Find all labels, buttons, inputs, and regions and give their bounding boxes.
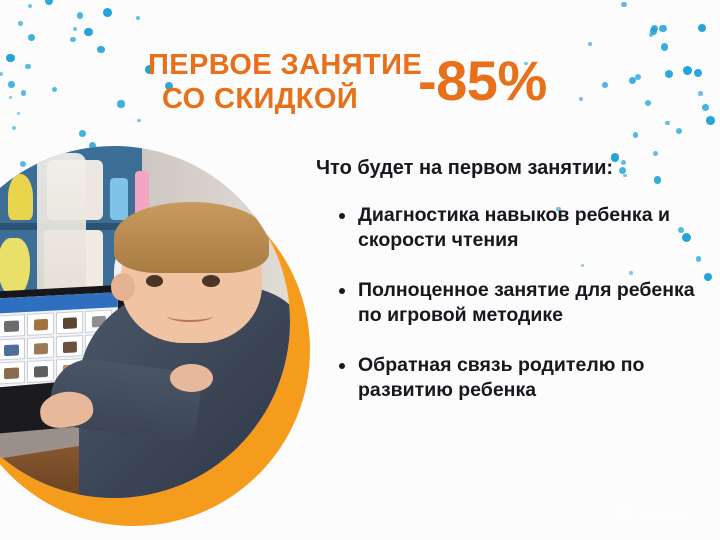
decorative-dot (137, 119, 141, 123)
decorative-dot (52, 87, 58, 93)
decorative-dot (629, 77, 636, 84)
decorative-dot (621, 2, 626, 7)
decorative-dot (79, 130, 86, 137)
decorative-dot (21, 90, 26, 95)
decorative-dot (653, 151, 658, 156)
photo-child-ear (111, 273, 136, 301)
decorative-dot (28, 34, 35, 41)
photo-child-hand (170, 364, 212, 392)
subheading: Что будет на первом занятии: (316, 157, 613, 180)
photo-child-mouth (167, 309, 213, 322)
avito-logo-icon (616, 504, 637, 525)
decorative-dot (683, 66, 692, 75)
decorative-dot (602, 82, 608, 88)
decorative-dot (588, 42, 592, 46)
decorative-dot (136, 16, 141, 21)
decorative-dot (651, 25, 658, 32)
decorative-dot (676, 128, 682, 134)
decorative-dot (77, 12, 84, 19)
photo-block (0, 140, 342, 540)
decorative-dot (694, 69, 702, 77)
decorative-dot (17, 112, 20, 115)
decorative-dot (623, 174, 627, 178)
decorative-dot (702, 104, 709, 111)
decorative-dot (117, 100, 124, 107)
list-item: Диагностика навыков ребенка и скорости ч… (336, 203, 708, 252)
decorative-dot (103, 8, 112, 17)
decorative-dot (25, 64, 30, 69)
decorative-dot (621, 160, 626, 165)
decorative-dot (659, 25, 666, 32)
decorative-dot (706, 116, 715, 125)
decorative-dot (661, 43, 669, 51)
photo-child-hair (114, 202, 269, 272)
decorative-dot (665, 121, 670, 126)
decorative-dot (97, 46, 105, 54)
decorative-dot (84, 28, 93, 37)
decorative-dot (12, 126, 15, 129)
photo-toy (8, 174, 33, 220)
decorative-dot (698, 91, 703, 96)
decorative-dot (6, 54, 15, 63)
benefits-list: Диагностика навыков ребенка и скорости ч… (336, 203, 708, 402)
photo-child-eye (202, 275, 220, 287)
decorative-dot (649, 33, 653, 37)
photo-toy (0, 238, 30, 298)
headline-block: ПЕРВОЕ ЗАНЯТИЕ СО СКИДКОЙ (148, 48, 448, 116)
decorative-dot (654, 176, 662, 184)
decorative-dot (73, 27, 77, 31)
decorative-dot (635, 74, 641, 80)
photo-child-eye (146, 275, 164, 287)
decorative-dot (698, 24, 707, 33)
decorative-dot (70, 37, 76, 43)
decorative-dot (633, 132, 639, 138)
promo-ad-card: ПЕРВОЕ ЗАНЯТИЕ СО СКИДКОЙ -85% Что будет… (0, 0, 720, 540)
decorative-dot (0, 72, 3, 76)
discount-badge: -85% (418, 53, 547, 109)
decorative-dot (619, 167, 626, 174)
photo-toy (110, 178, 128, 220)
avito-wordmark: Avito (641, 505, 689, 525)
decorative-dot (18, 21, 23, 26)
list-item: Обратная связь родителю по развитию ребе… (336, 353, 708, 402)
decorative-dot (579, 97, 583, 101)
decorative-dot (8, 81, 15, 88)
decorative-dot (665, 70, 673, 78)
headline-line-1: ПЕРВОЕ ЗАНЯТИЕ (148, 48, 448, 82)
decorative-dot (650, 27, 657, 34)
headline-line-2: СО СКИДКОЙ (148, 82, 448, 116)
avito-watermark: Avito (616, 504, 689, 525)
child-at-laptop-photo (0, 146, 290, 498)
decorative-dot (9, 96, 12, 99)
decorative-dot (645, 100, 651, 106)
decorative-dot (45, 0, 53, 5)
list-item: Полноценное занятие для ребенка по игров… (336, 278, 708, 327)
decorative-dot (28, 4, 32, 8)
